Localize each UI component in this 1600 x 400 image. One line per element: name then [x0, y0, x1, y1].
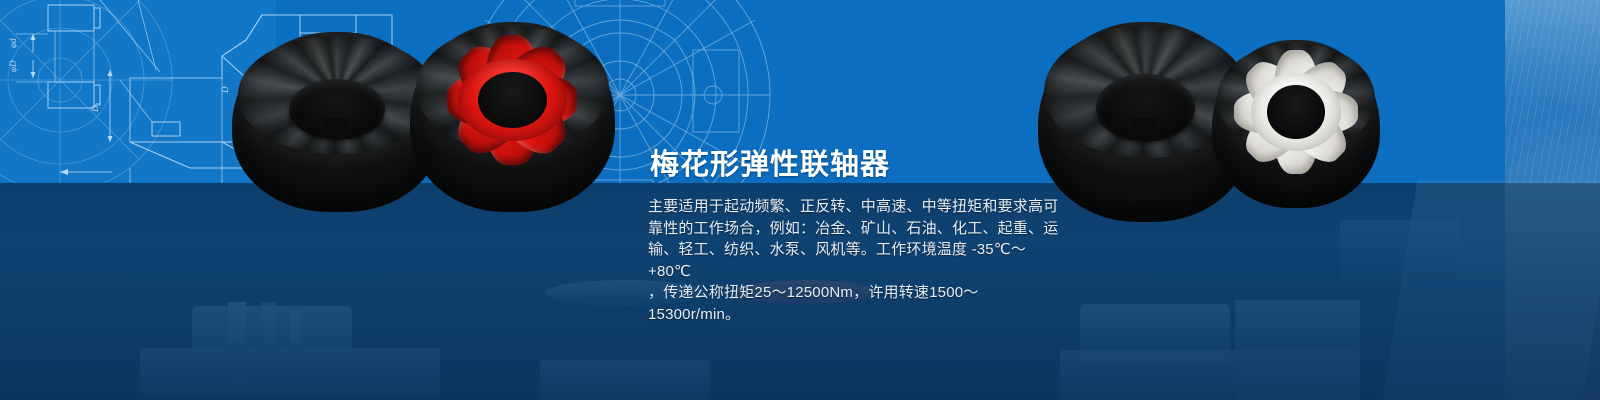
page-title: 梅花形弹性联轴器: [650, 141, 890, 183]
coupling-hub-white-spider: [1212, 40, 1380, 208]
description-line-2: 靠性的工作场合，例如：冶金、矿山、石油、化工、起重、运: [648, 218, 1068, 240]
spider-center-bore: [478, 72, 547, 128]
svg-text:D: D: [220, 86, 230, 94]
ghost-machinery-far-right: [1340, 180, 1600, 400]
description-line-3: 输、轻工、纺织、水泵、风机等。工作环境温度 -35℃～+80℃: [648, 239, 1068, 282]
description-line-1: 主要适用于起动频繁、正反转、中高速、中等扭矩和要求高可: [648, 196, 1068, 218]
product-banner: φd φD D₁: [0, 0, 1600, 400]
product-description: 主要适用于起动频繁、正反转、中高速、中等扭矩和要求高可 靠性的工作场合，例如：冶…: [648, 196, 1068, 325]
ghost-machinery-mid: [540, 330, 710, 400]
description-line-4: ，传递公称扭矩25～12500Nm，许用转速1500～15300r/min。: [648, 282, 1068, 325]
spider-center-bore: [1267, 85, 1324, 139]
background-right-photo-column: [1505, 0, 1600, 183]
ghost-machinery-left: [140, 300, 440, 400]
elastomer-spider-red: [422, 30, 602, 171]
ghost-machinery-right: [1060, 300, 1360, 400]
coupling-hub-red-spider: [410, 22, 615, 212]
hub-keyway: [324, 118, 347, 138]
hub-keyway: [1133, 118, 1157, 140]
elastomer-spider-white: [1220, 45, 1371, 179]
blueprint-rosette-secondary: [0, 0, 180, 200]
